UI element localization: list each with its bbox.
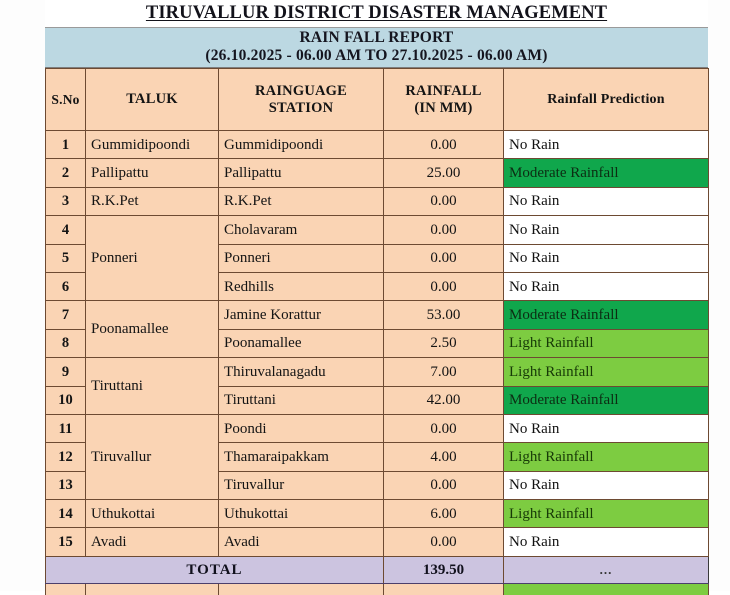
column-header-taluk: TALUK [86, 69, 219, 131]
cell-rainfall-prediction: Moderate Rainfall [504, 386, 709, 414]
cell-station: Thamaraipakkam [219, 443, 384, 471]
table-row: 9TiruttaniThiruvalanagadu7.00Light Rainf… [46, 358, 709, 386]
cell-sno: 13 [46, 471, 86, 499]
table-row: 2PallipattuPallipattu25.00Moderate Rainf… [46, 159, 709, 187]
cell-rainfall-mm: 7.00 [384, 358, 504, 386]
cell-station: Poonamallee [219, 329, 384, 357]
cell-station: Tiruvallur [219, 471, 384, 499]
table-row: 15AvadiAvadi0.00No Rain [46, 528, 709, 556]
cell-clipped-pred [504, 583, 709, 595]
cell-taluk: Uthukottai [86, 500, 219, 528]
page-title: TIRUVALLUR DISTRICT DISASTER MANAGEMENT [146, 3, 607, 24]
cell-station: Poondi [219, 414, 384, 442]
table-body: 1GummidipoondiGummidipoondi0.00No Rain2P… [46, 131, 709, 595]
cell-sno: 9 [46, 358, 86, 386]
cell-station: Avadi [219, 528, 384, 556]
cell-rainfall-mm: 0.00 [384, 272, 504, 300]
cell-rainfall-prediction: No Rain [504, 272, 709, 300]
total-rainfall-mm: 139.50 [384, 556, 504, 583]
cell-sno: 10 [46, 386, 86, 414]
column-header-rainfall: RAINFALL (IN MM) [384, 69, 504, 131]
table-row: 4PonneriCholavaram0.00No Rain [46, 216, 709, 244]
report-subtitle-band: RAIN FALL REPORT (26.10.2025 - 06.00 AM … [45, 28, 708, 68]
cell-rainfall-prediction: No Rain [504, 187, 709, 215]
cell-sno: 11 [46, 414, 86, 442]
table-row: 14UthukottaiUthukottai6.00Light Rainfall [46, 500, 709, 528]
cell-clipped-rain [384, 583, 504, 595]
cell-clipped-stn [219, 583, 384, 595]
cell-clipped-taluk [86, 583, 219, 595]
cell-station: Gummidipoondi [219, 131, 384, 159]
cell-rainfall-prediction: Moderate Rainfall [504, 301, 709, 329]
cell-sno: 6 [46, 272, 86, 300]
cell-rainfall-prediction: Light Rainfall [504, 500, 709, 528]
cell-taluk: Ponneri [86, 216, 219, 301]
report-subtitle: RAIN FALL REPORT [45, 29, 708, 47]
cell-rainfall-mm: 0.00 [384, 216, 504, 244]
rainfall-table: S.No TALUK RAINGUAGE STATION RAINFALL (I… [45, 68, 709, 595]
cell-rainfall-mm: 6.00 [384, 500, 504, 528]
cell-rainfall-mm: 42.00 [384, 386, 504, 414]
cell-rainfall-mm: 0.00 [384, 187, 504, 215]
cell-sno: 1 [46, 131, 86, 159]
cell-station: R.K.Pet [219, 187, 384, 215]
cell-rainfall-mm: 0.00 [384, 471, 504, 499]
cell-rainfall-prediction: No Rain [504, 528, 709, 556]
cell-sno: 12 [46, 443, 86, 471]
cell-sno: 3 [46, 187, 86, 215]
cell-rainfall-mm: 0.00 [384, 414, 504, 442]
cell-sno: 4 [46, 216, 86, 244]
cell-station: Jamine Korattur [219, 301, 384, 329]
table-row: 1GummidipoondiGummidipoondi0.00No Rain [46, 131, 709, 159]
cell-rainfall-prediction: Light Rainfall [504, 443, 709, 471]
cell-rainfall-prediction: Light Rainfall [504, 358, 709, 386]
cell-taluk: Tiruvallur [86, 414, 219, 499]
cell-rainfall-mm: 2.50 [384, 329, 504, 357]
cell-station: Cholavaram [219, 216, 384, 244]
cell-rainfall-prediction: No Rain [504, 131, 709, 159]
cell-rainfall-mm: 53.00 [384, 301, 504, 329]
cell-rainfall-prediction: Moderate Rainfall [504, 159, 709, 187]
table-row: 7PoonamalleeJamine Korattur53.00Moderate… [46, 301, 709, 329]
cell-rainfall-mm: 25.00 [384, 159, 504, 187]
cell-sno: 8 [46, 329, 86, 357]
report-page: TIRUVALLUR DISTRICT DISASTER MANAGEMENT … [0, 0, 730, 591]
column-header-sno: S.No [46, 69, 86, 131]
cell-taluk: R.K.Pet [86, 187, 219, 215]
table-row-clipped [46, 583, 709, 595]
cell-rainfall-prediction: No Rain [504, 216, 709, 244]
cell-sno: 7 [46, 301, 86, 329]
total-prediction: ... [504, 556, 709, 583]
cell-station: Pallipattu [219, 159, 384, 187]
cell-rainfall-prediction: No Rain [504, 414, 709, 442]
rainfall-report-sheet: TIRUVALLUR DISTRICT DISASTER MANAGEMENT … [45, 0, 708, 591]
header-row: S.No TALUK RAINGUAGE STATION RAINFALL (I… [46, 69, 709, 131]
cell-taluk: Pallipattu [86, 159, 219, 187]
cell-rainfall-mm: 0.00 [384, 244, 504, 272]
cell-rainfall-mm: 0.00 [384, 131, 504, 159]
cell-station: Redhills [219, 272, 384, 300]
station-header-line2: STATION [224, 100, 378, 117]
cell-sno: 14 [46, 500, 86, 528]
cell-rainfall-prediction: No Rain [504, 244, 709, 272]
cell-taluk: Tiruttani [86, 358, 219, 415]
cell-rainfall-mm: 4.00 [384, 443, 504, 471]
cell-rainfall-prediction: No Rain [504, 471, 709, 499]
column-header-station: RAINGUAGE STATION [219, 69, 384, 131]
cell-rainfall-prediction: Light Rainfall [504, 329, 709, 357]
cell-station: Tiruttani [219, 386, 384, 414]
station-header-line1: RAINGUAGE [224, 83, 378, 100]
cell-sno: 5 [46, 244, 86, 272]
table-row: 11TiruvallurPoondi0.00No Rain [46, 414, 709, 442]
cell-taluk: Poonamallee [86, 301, 219, 358]
table-row: 3R.K.PetR.K.Pet0.00No Rain [46, 187, 709, 215]
cell-clipped-sno [46, 583, 86, 595]
table-total-row: TOTAL139.50... [46, 556, 709, 583]
cell-taluk: Gummidipoondi [86, 131, 219, 159]
total-label: TOTAL [46, 556, 384, 583]
cell-sno: 2 [46, 159, 86, 187]
cell-taluk: Avadi [86, 528, 219, 556]
report-title-band: TIRUVALLUR DISTRICT DISASTER MANAGEMENT [45, 0, 708, 28]
report-period: (26.10.2025 - 06.00 AM TO 27.10.2025 - 0… [45, 47, 708, 65]
table-header: S.No TALUK RAINGUAGE STATION RAINFALL (I… [46, 69, 709, 131]
cell-station: Thiruvalanagadu [219, 358, 384, 386]
cell-sno: 15 [46, 528, 86, 556]
cell-station: Uthukottai [219, 500, 384, 528]
rainfall-header-line1: RAINFALL [389, 83, 498, 100]
column-header-prediction: Rainfall Prediction [504, 69, 709, 131]
cell-rainfall-mm: 0.00 [384, 528, 504, 556]
rainfall-header-line2: (IN MM) [389, 100, 498, 117]
cell-station: Ponneri [219, 244, 384, 272]
